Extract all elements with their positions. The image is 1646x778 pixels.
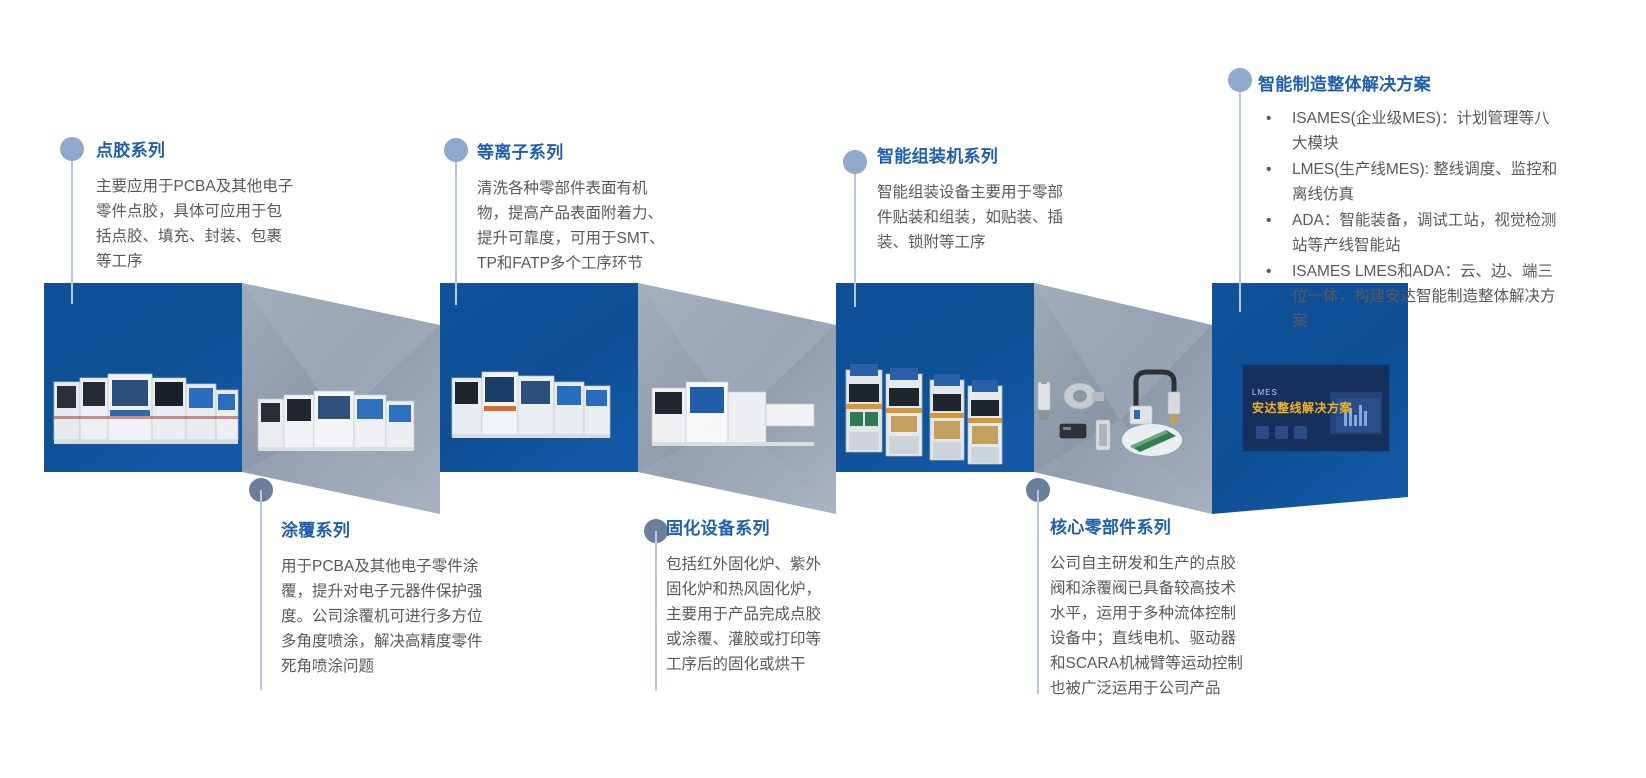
connector-dot-icon [444, 138, 468, 162]
monitor-label-big: 安达整线解决方案 [1252, 399, 1382, 416]
connector-stem [71, 149, 73, 304]
list-item-label: LMES(生产线MES): 整线调度、监控和离线仿真 [1292, 161, 1557, 203]
callout-body: 公司自主研发和生产的点胶阀和涂覆阀已具备较高技术水平，运用于多种流体控制设备中；… [1050, 551, 1250, 701]
callout-body: 智能组装设备主要用于零部件贴装和组装，如贴装、插装、锁附等工序 [877, 180, 1067, 255]
callout-body: 包括红外固化炉、紫外固化炉和热风固化炉，主要用于产品完成点胶或涂覆、灌胶或打印等… [666, 552, 836, 677]
list-item: • LMES(生产线MES): 整线调度、监控和离线仿真 [1258, 157, 1558, 207]
callout-title: 涂覆系列 [281, 520, 491, 542]
callout-title: 智能制造整体解决方案 [1258, 74, 1558, 96]
callout-core-parts[interactable]: 核心零部件系列 公司自主研发和生产的点胶阀和涂覆阀已具备较高技术水平，运用于多种… [1050, 517, 1250, 701]
callout-body: 用于PCBA及其他电子零件涂覆，提升对电子元器件保护强度。公司涂覆机可进行多方位… [281, 554, 491, 679]
callout-assembly[interactable]: 智能组装机系列 智能组装设备主要用于零部件贴装和组装，如贴装、插装、锁附等工序 [877, 146, 1067, 255]
connector-stem [655, 531, 657, 691]
callout-body: 清洗各种零部件表面有机物，提高产品表面附着力、提升可靠度，可用于SMT、TP和F… [477, 176, 667, 276]
bullet-dot-icon: • [1266, 106, 1271, 131]
connector-stem [260, 490, 262, 690]
bullet-dot-icon: • [1266, 157, 1271, 182]
connector-stem [1239, 80, 1241, 312]
connector-stem [854, 162, 856, 307]
connector-dot-icon [60, 137, 84, 161]
list-item: • ADA：智能装备，调试工站，视觉检测站等产线智能站 [1258, 208, 1558, 258]
monitor-label-small: LMES [1252, 388, 1382, 397]
callout-bullet-list: • ISAMES(企业级MES)：计划管理等八大模块 • LMES(生产线MES… [1258, 106, 1558, 334]
callout-curing[interactable]: 固化设备系列 包括红外固化炉、紫外固化炉和热风固化炉，主要用于产品完成点胶或涂覆… [666, 518, 836, 677]
callout-body: 主要应用于PCBA及其他电子零件点胶，具体可应用于包括点胶、填充、封装、包裹等工… [96, 174, 296, 274]
callout-title: 等离子系列 [477, 142, 667, 164]
callout-plasma[interactable]: 等离子系列 清洗各种零部件表面有机物，提高产品表面附着力、提升可靠度，可用于SM… [477, 142, 667, 276]
list-item: • ISAMES(企业级MES)：计划管理等八大模块 [1258, 106, 1558, 156]
callout-title: 核心零部件系列 [1050, 517, 1250, 539]
bullet-dot-icon: • [1266, 259, 1271, 284]
callout-dispensing[interactable]: 点胶系列 主要应用于PCBA及其他电子零件点胶，具体可应用于包括点胶、填充、封装… [96, 140, 296, 274]
infographic-stage: LMES 安达整线解决方案 点胶系列 主要应用于PCBA及其他电子零件点胶，具体… [0, 0, 1646, 778]
connector-dot-icon [843, 150, 867, 174]
connector-dot-icon [1228, 68, 1252, 92]
bullet-dot-icon: • [1266, 208, 1271, 233]
callout-title: 智能组装机系列 [877, 146, 1067, 168]
monitor-screen: LMES 安达整线解决方案 [1252, 372, 1382, 416]
connector-stem [1037, 490, 1039, 694]
list-item: • ISAMES LMES和ADA：云、边、端三位一体，构建安达智能制造整体解决… [1258, 259, 1558, 334]
callout-title: 点胶系列 [96, 140, 296, 162]
callout-coating[interactable]: 涂覆系列 用于PCBA及其他电子零件涂覆，提升对电子元器件保护强度。公司涂覆机可… [281, 520, 491, 679]
connector-stem [455, 150, 457, 305]
list-item-label: ISAMES(企业级MES)：计划管理等八大模块 [1292, 110, 1549, 152]
list-item-label: ISAMES LMES和ADA：云、边、端三位一体，构建安达智能制造整体解决方案 [1292, 263, 1556, 330]
list-item-label: ADA：智能装备，调试工站，视觉检测站等产线智能站 [1292, 212, 1556, 254]
callout-title: 固化设备系列 [666, 518, 836, 540]
callout-smart-mfg-solution[interactable]: 智能制造整体解决方案 • ISAMES(企业级MES)：计划管理等八大模块 • … [1258, 74, 1558, 335]
